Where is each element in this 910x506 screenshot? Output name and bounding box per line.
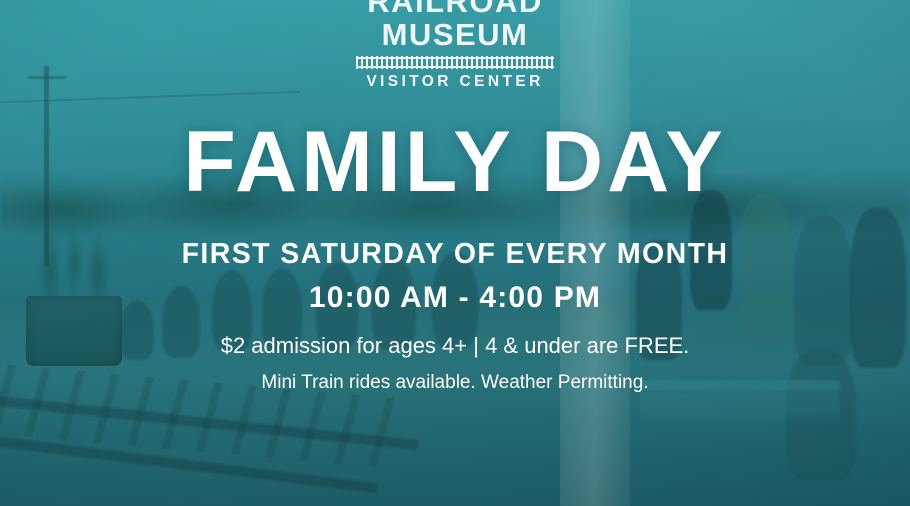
schedule-line: FIRST SATURDAY OF EVERY MONTH: [0, 238, 910, 271]
page-title: FAMILY DAY: [0, 122, 910, 204]
logo-line-2: MUSEUM: [0, 19, 910, 50]
museum-logo: RAILROAD MUSEUM VISITOR CENTER: [0, 0, 910, 90]
time-line: 10:00 AM - 4:00 PM: [0, 281, 910, 315]
note-line: Mini Train rides available. Weather Perm…: [0, 372, 910, 394]
admission-line: $2 admission for ages 4+ | 4 & under are…: [0, 333, 910, 359]
logo-subtitle: VISITOR CENTER: [0, 74, 910, 90]
poster-content: RAILROAD MUSEUM VISITOR CENTER FAMILY DA…: [0, 0, 910, 506]
logo-line-1: RAILROAD: [0, 0, 910, 17]
fence-rule-icon: [356, 56, 554, 69]
event-poster: RAILROAD MUSEUM VISITOR CENTER FAMILY DA…: [0, 0, 910, 506]
